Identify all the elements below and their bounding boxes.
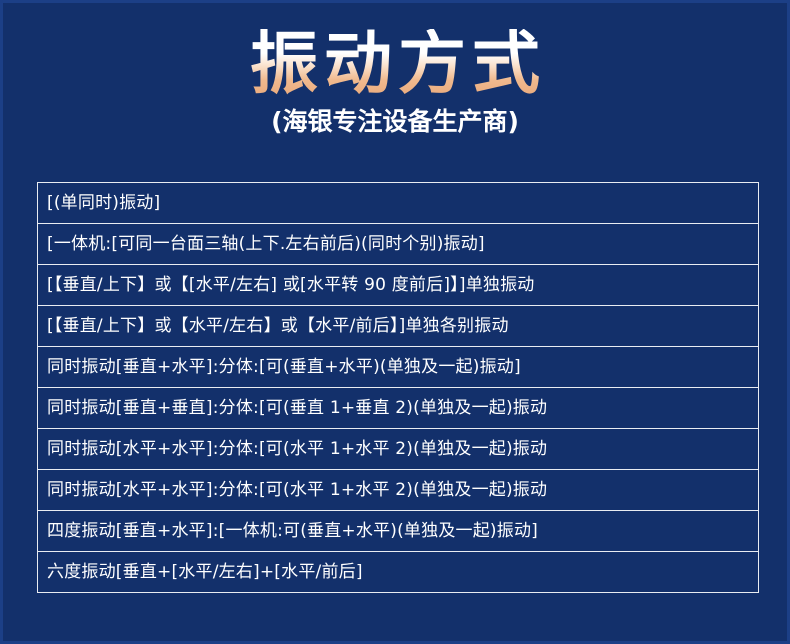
- table-row: 同时振动[水平+水平]:分体:[可(水平 1+水平 2)(单独及一起)振动: [38, 470, 758, 511]
- table-row: [一体机:[可同一台面三轴(上下.左右前后)(同时个别)振动]: [38, 224, 758, 265]
- page-title: 振动方式: [244, 29, 546, 100]
- table-row: [【垂直/上下】或【[水平/左右] 或[水平转 90 度前后]】]单独振动: [38, 265, 758, 306]
- table-row: [(单同时)振动]: [38, 183, 758, 224]
- table-row: [【垂直/上下】或【水平/左右】或【水平/前后】]单独各别振动: [38, 306, 758, 347]
- page-subtitle: (海银专注设备生产商): [3, 102, 787, 138]
- table-row: 同时振动[垂直+垂直]:分体:[可(垂直 1+垂直 2)(单独及一起)振动: [38, 388, 758, 429]
- table-row: 同时振动[垂直+水平]:分体:[可(垂直+水平)(单独及一起)振动]: [38, 347, 758, 388]
- table-row: 同时振动[水平+水平]:分体:[可(水平 1+水平 2)(单独及一起)振动: [38, 429, 758, 470]
- table-row: 四度振动[垂直+水平]:[一体机:可(垂直+水平)(单独及一起)振动]: [38, 511, 758, 552]
- table-row: 六度振动[垂直+[水平/左右]+[水平/前后]: [38, 552, 758, 593]
- poster-header: 振动方式 (海银专注设备生产商): [3, 3, 787, 138]
- vibration-modes-table: [(单同时)振动] [一体机:[可同一台面三轴(上下.左右前后)(同时个别)振动…: [37, 182, 759, 593]
- poster-root: 振动方式 (海银专注设备生产商) [(单同时)振动] [一体机:[可同一台面三轴…: [0, 0, 790, 644]
